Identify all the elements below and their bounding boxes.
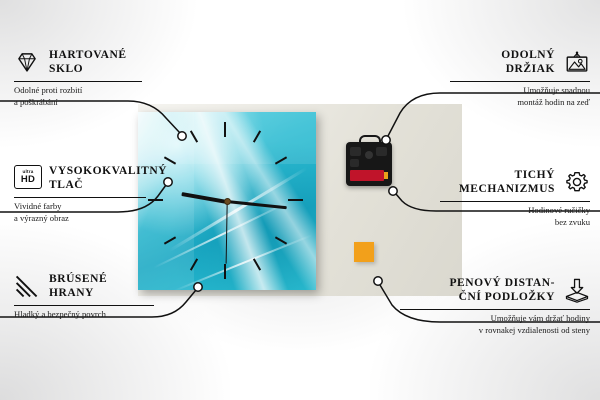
hour-marker: [224, 122, 226, 137]
infographic-canvas: HARTOVANÉ SKLO Odolné proti rozbití a po…: [0, 0, 600, 400]
hour-marker: [148, 199, 163, 201]
mechanism-detail: [350, 159, 359, 167]
feature-description: Hodinové ručičky bez zvuku: [440, 205, 590, 229]
foam-spacer-pad: [354, 242, 374, 262]
title-underline: [14, 305, 154, 306]
hour-marker: [224, 264, 226, 279]
feature-polished-edges[interactable]: BRÚSENÉ HRANY Hladký a bezpečný povrch: [14, 272, 154, 321]
mechanism-shaft: [365, 151, 373, 159]
title-underline: [450, 81, 590, 82]
framed-picture-icon: [564, 49, 590, 75]
ultra-hd-badge-icon: ultra HD: [14, 165, 40, 191]
diagonal-hatch-icon: [14, 273, 40, 299]
feature-description: Odolné proti rozbití a poškrábání: [14, 85, 142, 109]
feature-title: HARTOVANÉ SKLO: [49, 48, 127, 77]
title-underline: [14, 81, 142, 82]
feature-description: Vividné farby a výrazný obraz: [14, 201, 146, 225]
product-photo: [138, 104, 462, 296]
gear-icon: [564, 169, 590, 195]
title-underline: [400, 309, 590, 310]
clock-center-pin: [224, 198, 231, 205]
title-underline: [14, 197, 146, 198]
hour-marker: [288, 199, 303, 201]
feature-description: Umožňuje vám držať hodiny v rovnakej vzd…: [400, 313, 590, 337]
clock-mechanism: [346, 142, 392, 186]
feature-foam-spacers[interactable]: PENOVÝ DISTAN- ČNÍ PODLOŽKY Umožňuje vám…: [400, 276, 590, 336]
mechanism-detail: [350, 147, 361, 156]
feature-title: TICHÝ MECHANIZMUS: [459, 168, 555, 197]
feature-silent-mechanism[interactable]: TICHÝ MECHANIZMUS Hodinové ručičky bez z…: [440, 168, 590, 228]
feature-high-quality-print[interactable]: ultra HD VYSOKOKVALITNÝ TLAČ Vividné far…: [14, 164, 146, 224]
feature-title: PENOVÝ DISTAN- ČNÍ PODLOŽKY: [449, 276, 555, 305]
feature-title: ODOLNÝ DRŽIAK: [501, 48, 555, 77]
stacked-pads-arrow-icon: [564, 277, 590, 303]
wall-clock: [138, 112, 316, 290]
title-underline: [440, 201, 590, 202]
diamond-icon: [14, 49, 40, 75]
mechanism-hanger-loop: [359, 135, 381, 147]
feature-title: BRÚSENÉ HRANY: [49, 272, 107, 301]
battery: [350, 170, 384, 181]
feature-description: Umožňuje snadnou montáž hodin na zeď: [450, 85, 590, 109]
feature-description: Hladký a bezpečný povrch: [14, 309, 154, 321]
feature-title: VYSOKOKVALITNÝ TLAČ: [49, 164, 167, 193]
feature-tempered-glass[interactable]: HARTOVANÉ SKLO Odolné proti rozbití a po…: [14, 48, 142, 108]
feature-durable-hanger[interactable]: ODOLNÝ DRŽIAK Umožňuje snadnou montáž ho…: [450, 48, 590, 108]
mechanism-detail: [376, 147, 387, 156]
